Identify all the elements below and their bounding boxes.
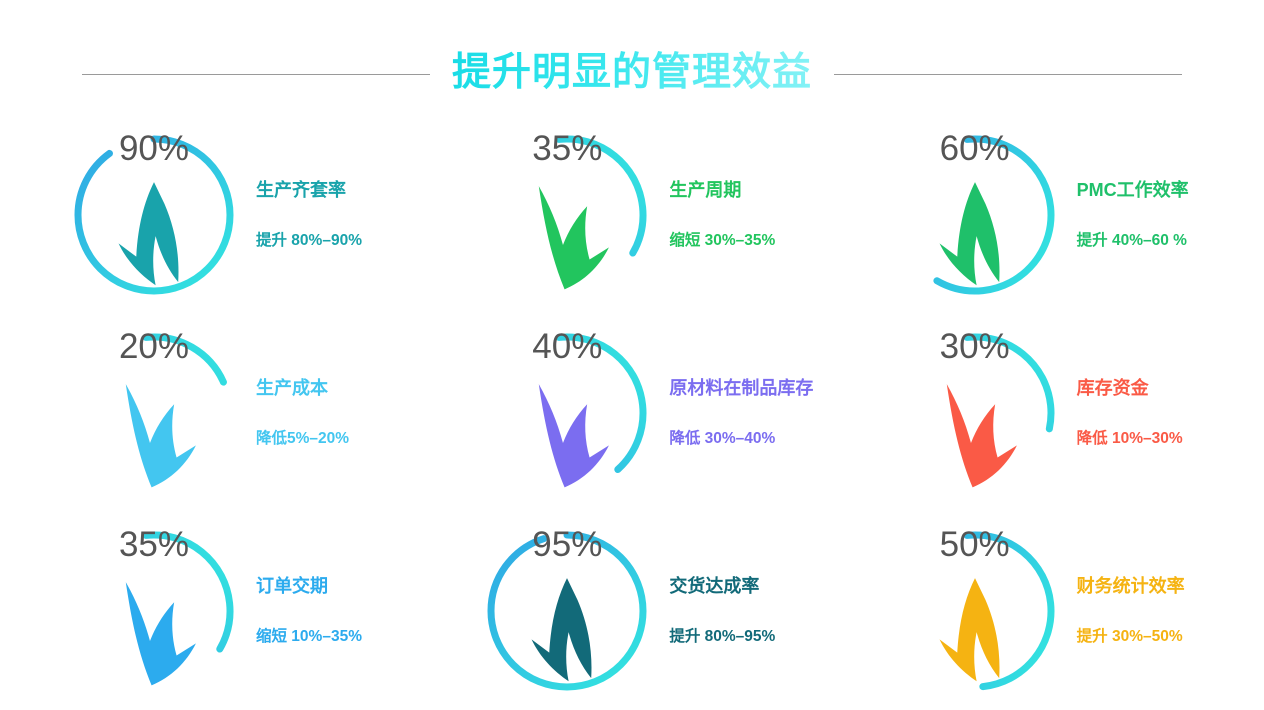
gauge-ring: 35% (483, 131, 651, 299)
gauge-center: 95% (483, 527, 651, 695)
metric-text: 财务统计效率 提升 30%–50% (1077, 551, 1185, 671)
gauge-value: 30% (940, 329, 1010, 364)
metric-title: 原材料在制品库存 (669, 379, 813, 397)
metric-subtitle: 提升 80%–90% (256, 233, 362, 249)
arrow-up-icon (483, 566, 651, 695)
gauge-ring: 50% (891, 527, 1059, 695)
page-title: 提升明显的管理效益 (452, 49, 812, 100)
metric-title: 财务统计效率 (1077, 577, 1185, 595)
gauge-center: 50% (891, 527, 1059, 695)
metric-card[interactable]: 35% 订单交期 缩短 10%–35% (0, 512, 421, 710)
arrow-up-icon (70, 170, 238, 299)
metric-subtitle: 提升 40%–60 % (1077, 233, 1189, 249)
metric-text: PMC工作效率 提升 40%–60 % (1077, 155, 1189, 275)
metric-title: 生产成本 (256, 379, 349, 397)
arrow-up-icon (891, 170, 1059, 299)
gauge-ring: 90% (70, 131, 238, 299)
metric-card[interactable]: 30% 库存资金 降低 10%–30% (843, 314, 1264, 512)
gauge-value: 90% (119, 131, 189, 166)
metric-subtitle: 降低 30%–40% (669, 431, 813, 447)
metric-text: 原材料在制品库存 降低 30%–40% (669, 353, 813, 473)
gauge-value: 60% (940, 131, 1010, 166)
metric-subtitle: 降低5%–20% (256, 431, 349, 447)
gauge-center: 30% (891, 329, 1059, 497)
metrics-grid: 90% 生产齐套率 提升 80%–90% 35% (0, 116, 1264, 710)
metric-card[interactable]: 20% 生产成本 降低5%–20% (0, 314, 421, 512)
metric-card[interactable]: 50% 财务统计效率 提升 30%–50% (843, 512, 1264, 710)
gauge-ring: 60% (891, 131, 1059, 299)
gauge-value: 20% (119, 329, 189, 364)
gauge-ring: 20% (70, 329, 238, 497)
metric-title: 生产齐套率 (256, 181, 362, 199)
metric-title: 生产周期 (669, 181, 775, 199)
header-rule-left (82, 74, 430, 75)
page-header: 提升明显的管理效益 (0, 46, 1264, 102)
header-rule-right (834, 74, 1182, 75)
arrow-down-icon (483, 368, 651, 497)
metric-title: PMC工作效率 (1077, 181, 1189, 199)
arrow-down-icon (70, 368, 238, 497)
metric-text: 生产成本 降低5%–20% (256, 353, 349, 473)
arrow-up-icon (891, 566, 1059, 695)
metric-title: 库存资金 (1077, 379, 1183, 397)
metric-text: 交货达成率 提升 80%–95% (669, 551, 775, 671)
metric-subtitle: 提升 30%–50% (1077, 629, 1185, 645)
metric-title: 交货达成率 (669, 577, 775, 595)
arrow-down-icon (891, 368, 1059, 497)
metric-text: 生产齐套率 提升 80%–90% (256, 155, 362, 275)
arrow-down-icon (483, 170, 651, 299)
gauge-center: 20% (70, 329, 238, 497)
gauge-ring: 95% (483, 527, 651, 695)
metric-text: 生产周期 缩短 30%–35% (669, 155, 775, 275)
gauge-center: 35% (70, 527, 238, 695)
arrow-down-icon (70, 566, 238, 695)
gauge-value: 35% (532, 131, 602, 166)
gauge-center: 90% (70, 131, 238, 299)
metric-text: 库存资金 降低 10%–30% (1077, 353, 1183, 473)
metric-subtitle: 缩短 30%–35% (669, 233, 775, 249)
gauge-value: 40% (532, 329, 602, 364)
gauge-value: 35% (119, 527, 189, 562)
metric-card[interactable]: 95% 交货达成率 提升 80%–95% (421, 512, 842, 710)
gauge-center: 40% (483, 329, 651, 497)
metric-card[interactable]: 90% 生产齐套率 提升 80%–90% (0, 116, 421, 314)
metric-card[interactable]: 35% 生产周期 缩短 30%–35% (421, 116, 842, 314)
metric-subtitle: 缩短 10%–35% (256, 629, 362, 645)
metric-text: 订单交期 缩短 10%–35% (256, 551, 362, 671)
metric-subtitle: 提升 80%–95% (669, 629, 775, 645)
gauge-ring: 40% (483, 329, 651, 497)
gauge-value: 95% (532, 527, 602, 562)
metric-card[interactable]: 40% 原材料在制品库存 降低 30%–40% (421, 314, 842, 512)
gauge-center: 60% (891, 131, 1059, 299)
gauge-ring: 30% (891, 329, 1059, 497)
metric-subtitle: 降低 10%–30% (1077, 431, 1183, 447)
gauge-center: 35% (483, 131, 651, 299)
gauge-ring: 35% (70, 527, 238, 695)
metric-card[interactable]: 60% PMC工作效率 提升 40%–60 % (843, 116, 1264, 314)
gauge-value: 50% (940, 527, 1010, 562)
metric-title: 订单交期 (256, 577, 362, 595)
